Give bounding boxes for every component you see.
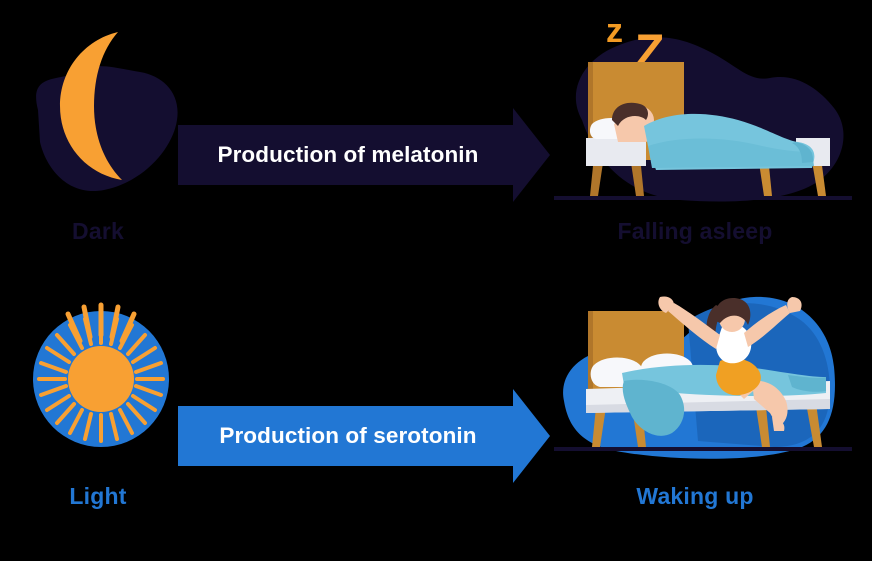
waking-up-scene xyxy=(548,281,872,511)
moon-icon-stage xyxy=(18,10,188,210)
arrow-melatonin-shape xyxy=(178,105,554,205)
label-light: Light xyxy=(0,483,196,510)
arrow-melatonin-path xyxy=(178,108,550,202)
person-hand-right xyxy=(787,297,801,313)
diagram-row-dark: Dark Production of melatonin z Z z z xyxy=(0,0,872,280)
label-falling-asleep: Falling asleep xyxy=(548,218,842,245)
arrow-serotonin-stage[interactable]: Production of serotonin xyxy=(178,386,554,486)
label-waking-up: Waking up xyxy=(548,483,842,510)
sun-core-disc xyxy=(68,346,134,412)
bed-mattress-left xyxy=(586,138,646,166)
ground-line-2 xyxy=(554,447,852,451)
sun-icon-stage xyxy=(18,291,188,491)
falling-asleep-scene: z Z z z xyxy=(548,0,872,230)
diagram-row-light: Light Production of serotonin xyxy=(0,281,872,561)
arrow-serotonin-shape xyxy=(178,386,554,486)
arrow-melatonin-stage[interactable]: Production of melatonin xyxy=(178,105,554,205)
sun-icon xyxy=(18,291,188,491)
diagram-canvas: Dark Production of melatonin z Z z z xyxy=(0,0,872,561)
ground-line xyxy=(554,196,852,200)
person-sleeping-in-bed-icon: z Z z z xyxy=(548,0,872,230)
sleep-mark-z-small: z xyxy=(606,12,623,50)
person-stretching-awake-in-bed-icon xyxy=(548,281,872,511)
crescent-moon-icon xyxy=(18,10,188,210)
label-dark: Dark xyxy=(0,218,196,245)
arrow-serotonin-path xyxy=(178,389,550,483)
